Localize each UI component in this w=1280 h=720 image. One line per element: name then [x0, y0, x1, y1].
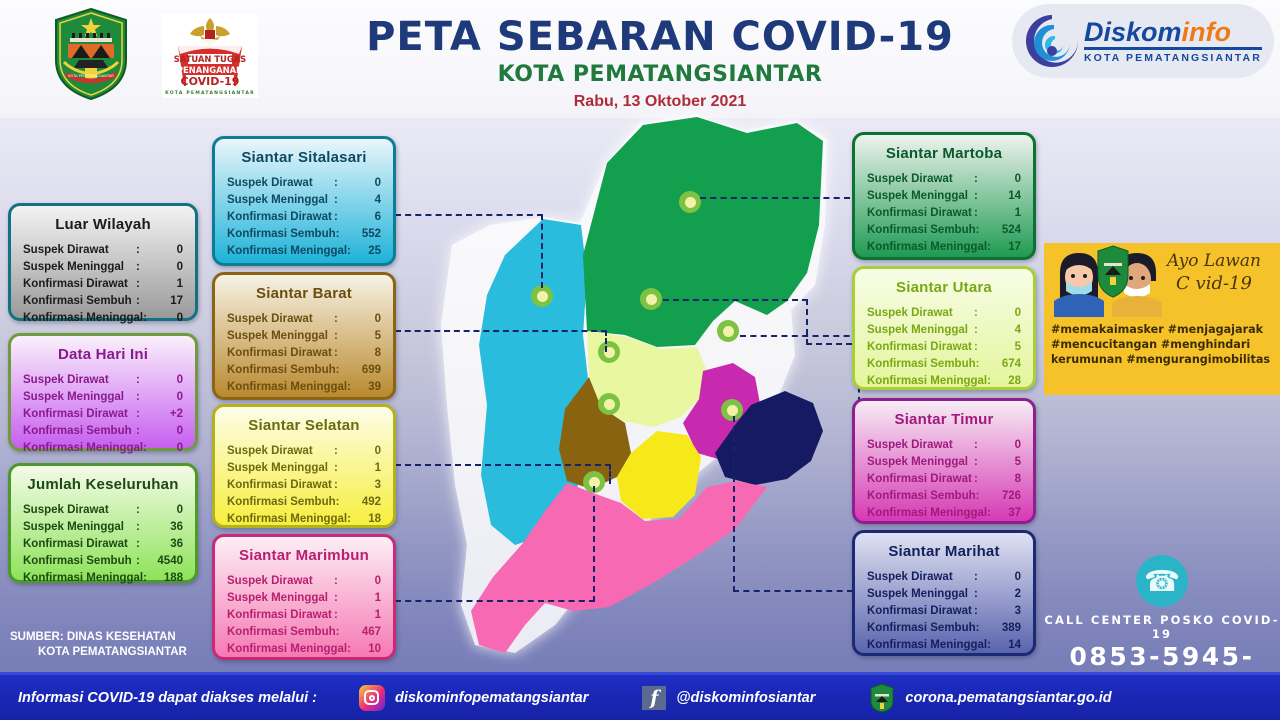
- lambang-kota-footer-icon: [869, 683, 895, 713]
- card-title: Siantar Sitalasari: [227, 149, 381, 166]
- phone-icon: ☎: [1136, 555, 1188, 607]
- stat-row: Konfirmasi Sembuh:492: [227, 494, 381, 511]
- source-line-2: KOTA PEMATANGSIANTAR: [10, 645, 220, 660]
- poster-canvas: KOTA PEMATANGSIANTAR SATUAN TUGAS PENANG…: [0, 0, 1280, 720]
- card-stats: Suspek Dirawat:0 Suspek Meninggal:4 Konf…: [227, 175, 381, 259]
- stat-row: Konfirmasi Sembuh:389: [867, 620, 1021, 637]
- stat-row: Konfirmasi Dirawat:6: [227, 209, 381, 226]
- lambang-kota-small-icon: [1096, 245, 1130, 299]
- connector-marimbun: [395, 600, 595, 602]
- hashtag-line-1: #memakaimasker #menjagajarak: [1051, 323, 1273, 338]
- card-stats: Suspek Dirawat:0 Suspek Meninggal:4 Konf…: [867, 305, 1021, 389]
- card-siantar-utara[interactable]: Siantar Utara Suspek Dirawat:0 Suspek Me…: [852, 266, 1036, 390]
- instagram-icon: [359, 685, 385, 711]
- campaign-title-line1: Ayo Lawan: [1154, 251, 1274, 271]
- stat-row: Konfirmasi Meninggal:39: [227, 379, 381, 396]
- stat-row: Konfirmasi Dirawat:8: [227, 345, 381, 362]
- card-stats: Suspek Dirawat:0 Suspek Meninggal:0 Konf…: [23, 372, 183, 456]
- stat-row: Suspek Dirawat:0: [23, 372, 183, 389]
- stat-row: Suspek Meninggal:5: [227, 328, 381, 345]
- stat-row: Konfirmasi Sembuh:4540: [23, 553, 183, 570]
- stat-row: Konfirmasi Sembuh:0: [23, 423, 183, 440]
- footer-bar: Informasi COVID-19 dapat diakses melalui…: [0, 672, 1280, 720]
- stat-row: Konfirmasi Dirawat:1: [227, 607, 381, 624]
- card-stats: Suspek Dirawat:0 Suspek Meninggal:5 Konf…: [227, 311, 381, 395]
- map-marker-sitalasari[interactable]: [531, 285, 553, 307]
- card-stats: Suspek Dirawat:0 Suspek Meninggal:36 Kon…: [23, 502, 183, 586]
- card-stats: Suspek Dirawat:0 Suspek Meninggal:1 Konf…: [227, 443, 381, 527]
- call-center-label: CALL CENTER POSKO COVID-19: [1044, 613, 1280, 641]
- svg-text:COVID-19: COVID-19: [181, 75, 240, 88]
- card-stats: Suspek Dirawat:0 Suspek Meninggal:14 Kon…: [867, 171, 1021, 255]
- campaign-illustration: Ayo Lawan C vid-19: [1044, 243, 1280, 321]
- card-luar-wilayah[interactable]: Luar Wilayah Suspek Dirawat:0 Suspek Men…: [8, 203, 198, 321]
- brand-tagline: KOTA PEMATANGSIANTAR: [1084, 52, 1262, 64]
- card-title: Siantar Timur: [867, 411, 1021, 428]
- connector-martoba: [700, 197, 850, 199]
- map-marker-utara[interactable]: [640, 288, 662, 310]
- card-title: Siantar Marihat: [867, 543, 1021, 560]
- map-marker-marihat[interactable]: [721, 399, 743, 421]
- card-title: Siantar Barat: [227, 285, 381, 302]
- stat-row: Konfirmasi Sembuh:524: [867, 222, 1021, 239]
- campaign-banner: Ayo Lawan C vid-19 #memakaimasker #menja…: [1044, 243, 1280, 395]
- district-map: [395, 105, 865, 665]
- footer-facebook[interactable]: f @diskominfosiantar: [642, 686, 815, 710]
- stat-row: Suspek Meninggal:36: [23, 519, 183, 536]
- connector-utara: [663, 299, 808, 301]
- stat-row: Konfirmasi Sembuh:726: [867, 488, 1021, 505]
- card-stats: Suspek Dirawat:0 Suspek Meninggal:1 Konf…: [227, 573, 381, 657]
- call-center-block: ☎ CALL CENTER POSKO COVID-19 0853-5945-8…: [1044, 555, 1280, 655]
- campaign-title: Ayo Lawan C vid-19: [1154, 251, 1274, 294]
- stat-row: Suspek Meninggal:4: [227, 192, 381, 209]
- stat-row: Suspek Dirawat:0: [867, 437, 1021, 454]
- stat-row: Suspek Meninggal:0: [23, 259, 183, 276]
- stat-row: Konfirmasi Meninggal:0: [23, 440, 183, 457]
- footer-website[interactable]: corona.pematangsiantar.go.id: [869, 683, 1111, 713]
- instagram-handle: diskominfopematangsiantar: [395, 690, 588, 706]
- card-data-hari-ini[interactable]: Data Hari Ini Suspek Dirawat:0 Suspek Me…: [8, 333, 198, 451]
- stat-row: Suspek Dirawat:0: [227, 573, 381, 590]
- connector-selatan-drop: [609, 464, 611, 484]
- stat-row: Suspek Dirawat:0: [867, 305, 1021, 322]
- stat-row: Konfirmasi Dirawat:5: [867, 339, 1021, 356]
- stat-row: Suspek Dirawat:0: [23, 502, 183, 519]
- brand-word-secondary: info: [1182, 17, 1231, 47]
- card-title: Luar Wilayah: [23, 216, 183, 233]
- connector-sitalasari: [395, 214, 543, 216]
- card-siantar-marihat[interactable]: Siantar Marihat Suspek Dirawat:0 Suspek …: [852, 530, 1036, 656]
- svg-text:SATUAN TUGAS: SATUAN TUGAS: [174, 54, 246, 64]
- card-siantar-sitalasari[interactable]: Siantar Sitalasari Suspek Dirawat:0 Susp…: [212, 136, 396, 266]
- stat-row: Suspek Dirawat:0: [867, 569, 1021, 586]
- connector-sitalasari-drop: [541, 214, 543, 288]
- stat-row: Konfirmasi Sembuh:699: [227, 362, 381, 379]
- card-title: Siantar Marimbun: [227, 547, 381, 564]
- stat-row: Suspek Dirawat:0: [227, 311, 381, 328]
- connector-utara-drop: [806, 299, 808, 345]
- stat-row: Konfirmasi Meninggal:10: [227, 641, 381, 658]
- card-siantar-timur[interactable]: Siantar Timur Suspek Dirawat:0 Suspek Me…: [852, 398, 1036, 524]
- swirl-icon: [1022, 11, 1082, 71]
- connector-barat-drop: [605, 330, 607, 352]
- card-siantar-barat[interactable]: Siantar Barat Suspek Dirawat:0 Suspek Me…: [212, 272, 396, 400]
- stat-row: Konfirmasi Dirawat:8: [867, 471, 1021, 488]
- map-marker-timur[interactable]: [717, 320, 739, 342]
- stat-row: Suspek Meninggal:4: [867, 322, 1021, 339]
- map-svg: [395, 105, 865, 665]
- facebook-handle: @diskominfosiantar: [676, 690, 815, 706]
- card-stats: Suspek Dirawat:0 Suspek Meninggal:2 Konf…: [867, 569, 1021, 653]
- stat-row: Konfirmasi Sembuh:467: [227, 624, 381, 641]
- card-title: Siantar Selatan: [227, 417, 381, 434]
- stat-row: Konfirmasi Dirawat:3: [867, 603, 1021, 620]
- stat-row: Suspek Meninggal:0: [23, 389, 183, 406]
- hashtag-line-3: kerumunan #mengurangimobilitas: [1051, 353, 1273, 368]
- connector-timur: [740, 335, 860, 337]
- stat-row: Konfirmasi Dirawat:1: [23, 276, 183, 293]
- stat-row: Suspek Dirawat:0: [227, 175, 381, 192]
- stat-row: Suspek Dirawat:0: [867, 171, 1021, 188]
- hashtag-line-2: #mencucitangan #menghindari: [1051, 338, 1273, 353]
- stat-row: Konfirmasi Sembuh:552: [227, 226, 381, 243]
- footer-instagram[interactable]: diskominfopematangsiantar: [359, 685, 588, 711]
- stat-row: Konfirmasi Dirawat:+2: [23, 406, 183, 423]
- stat-row: Suspek Meninggal:14: [867, 188, 1021, 205]
- stat-row: Konfirmasi Meninggal:37: [867, 505, 1021, 522]
- map-marker-selatan[interactable]: [598, 393, 620, 415]
- card-title: Jumlah Keseluruhan: [23, 476, 183, 493]
- website-url: corona.pematangsiantar.go.id: [905, 690, 1111, 706]
- connector-barat: [395, 330, 607, 332]
- source-line-1: SUMBER: DINAS KESEHATAN: [10, 630, 220, 645]
- logo-satgas-covid: SATUAN TUGAS PENANGANAN COVID-19 KOTA PE…: [162, 14, 258, 98]
- svg-text:KOTA PEMATANGSIANTAR: KOTA PEMATANGSIANTAR: [165, 90, 255, 96]
- stat-row: Konfirmasi Meninggal:0: [23, 310, 183, 327]
- card-jumlah-keseluruhan[interactable]: Jumlah Keseluruhan Suspek Dirawat:0 Susp…: [8, 463, 198, 583]
- stat-row: Konfirmasi Meninggal:188: [23, 570, 183, 587]
- stat-row: Konfirmasi Meninggal:18: [227, 511, 381, 528]
- connector-utara-tail: [806, 343, 852, 345]
- stat-row: Konfirmasi Sembuh:674: [867, 356, 1021, 373]
- stat-row: Suspek Meninggal:5: [867, 454, 1021, 471]
- stat-row: Konfirmasi Meninggal:28: [867, 373, 1021, 390]
- card-siantar-marimbun[interactable]: Siantar Marimbun Suspek Dirawat:0 Suspek…: [212, 534, 396, 660]
- lambang-kota-icon: KOTA PEMATANGSIANTAR: [52, 8, 130, 100]
- card-title: Siantar Utara: [867, 279, 1021, 296]
- card-stats: Suspek Dirawat:0 Suspek Meninggal:0 Konf…: [23, 242, 183, 326]
- brand-underline: [1084, 47, 1262, 50]
- source-note: SUMBER: DINAS KESEHATAN KOTA PEMATANGSIA…: [10, 630, 220, 659]
- stat-row: Suspek Meninggal:1: [227, 590, 381, 607]
- map-marker-barat[interactable]: [598, 341, 620, 363]
- card-siantar-selatan[interactable]: Siantar Selatan Suspek Dirawat:0 Suspek …: [212, 404, 396, 528]
- connector-marihat-drop: [733, 416, 735, 592]
- card-stats: Suspek Dirawat:0 Suspek Meninggal:5 Konf…: [867, 437, 1021, 521]
- stat-row: Konfirmasi Dirawat:1: [867, 205, 1021, 222]
- connector-selatan: [395, 464, 611, 466]
- campaign-title-line2: C vid-19: [1154, 273, 1274, 294]
- connector-marihat: [733, 590, 853, 592]
- page-title: PETA SEBARAN COVID-19: [340, 14, 980, 60]
- stat-row: Suspek Meninggal:1: [227, 460, 381, 477]
- footer-intro: Informasi COVID-19 dapat diakses melalui…: [18, 690, 317, 706]
- page-subtitle: KOTA PEMATANGSIANTAR: [340, 62, 980, 87]
- stat-row: Konfirmasi Meninggal:25: [227, 243, 381, 260]
- stat-row: Suspek Dirawat:0: [227, 443, 381, 460]
- connector-marimbun-rise: [593, 486, 595, 602]
- facebook-icon: f: [642, 686, 666, 710]
- card-title: Siantar Martoba: [867, 145, 1021, 162]
- stat-row: Suspek Dirawat:0: [23, 242, 183, 259]
- svg-text:KOTA PEMATANGSIANTAR: KOTA PEMATANGSIANTAR: [68, 74, 114, 78]
- stat-row: Konfirmasi Sembuh:17: [23, 293, 183, 310]
- diskominfo-logo: Diskominfo KOTA PEMATANGSIANTAR: [1012, 4, 1274, 78]
- header-bar: KOTA PEMATANGSIANTAR SATUAN TUGAS PENANG…: [0, 0, 1280, 118]
- stat-row: Konfirmasi Meninggal:14: [867, 637, 1021, 654]
- svg-text:PENANGANAN: PENANGANAN: [177, 65, 243, 75]
- brand-word-primary: Diskom: [1084, 17, 1182, 47]
- stat-row: Konfirmasi Meninggal:17: [867, 239, 1021, 256]
- title-block: PETA SEBARAN COVID-19 KOTA PEMATANGSIANT…: [340, 14, 980, 111]
- card-siantar-martoba[interactable]: Siantar Martoba Suspek Dirawat:0 Suspek …: [852, 132, 1036, 260]
- stat-row: Konfirmasi Dirawat:36: [23, 536, 183, 553]
- campaign-hashtags: #memakaimasker #menjagajarak #mencucitan…: [1044, 321, 1280, 367]
- stat-row: Konfirmasi Dirawat:3: [227, 477, 381, 494]
- map-marker-martoba[interactable]: [679, 191, 701, 213]
- card-title: Data Hari Ini: [23, 346, 183, 363]
- stat-row: Suspek Meninggal:2: [867, 586, 1021, 603]
